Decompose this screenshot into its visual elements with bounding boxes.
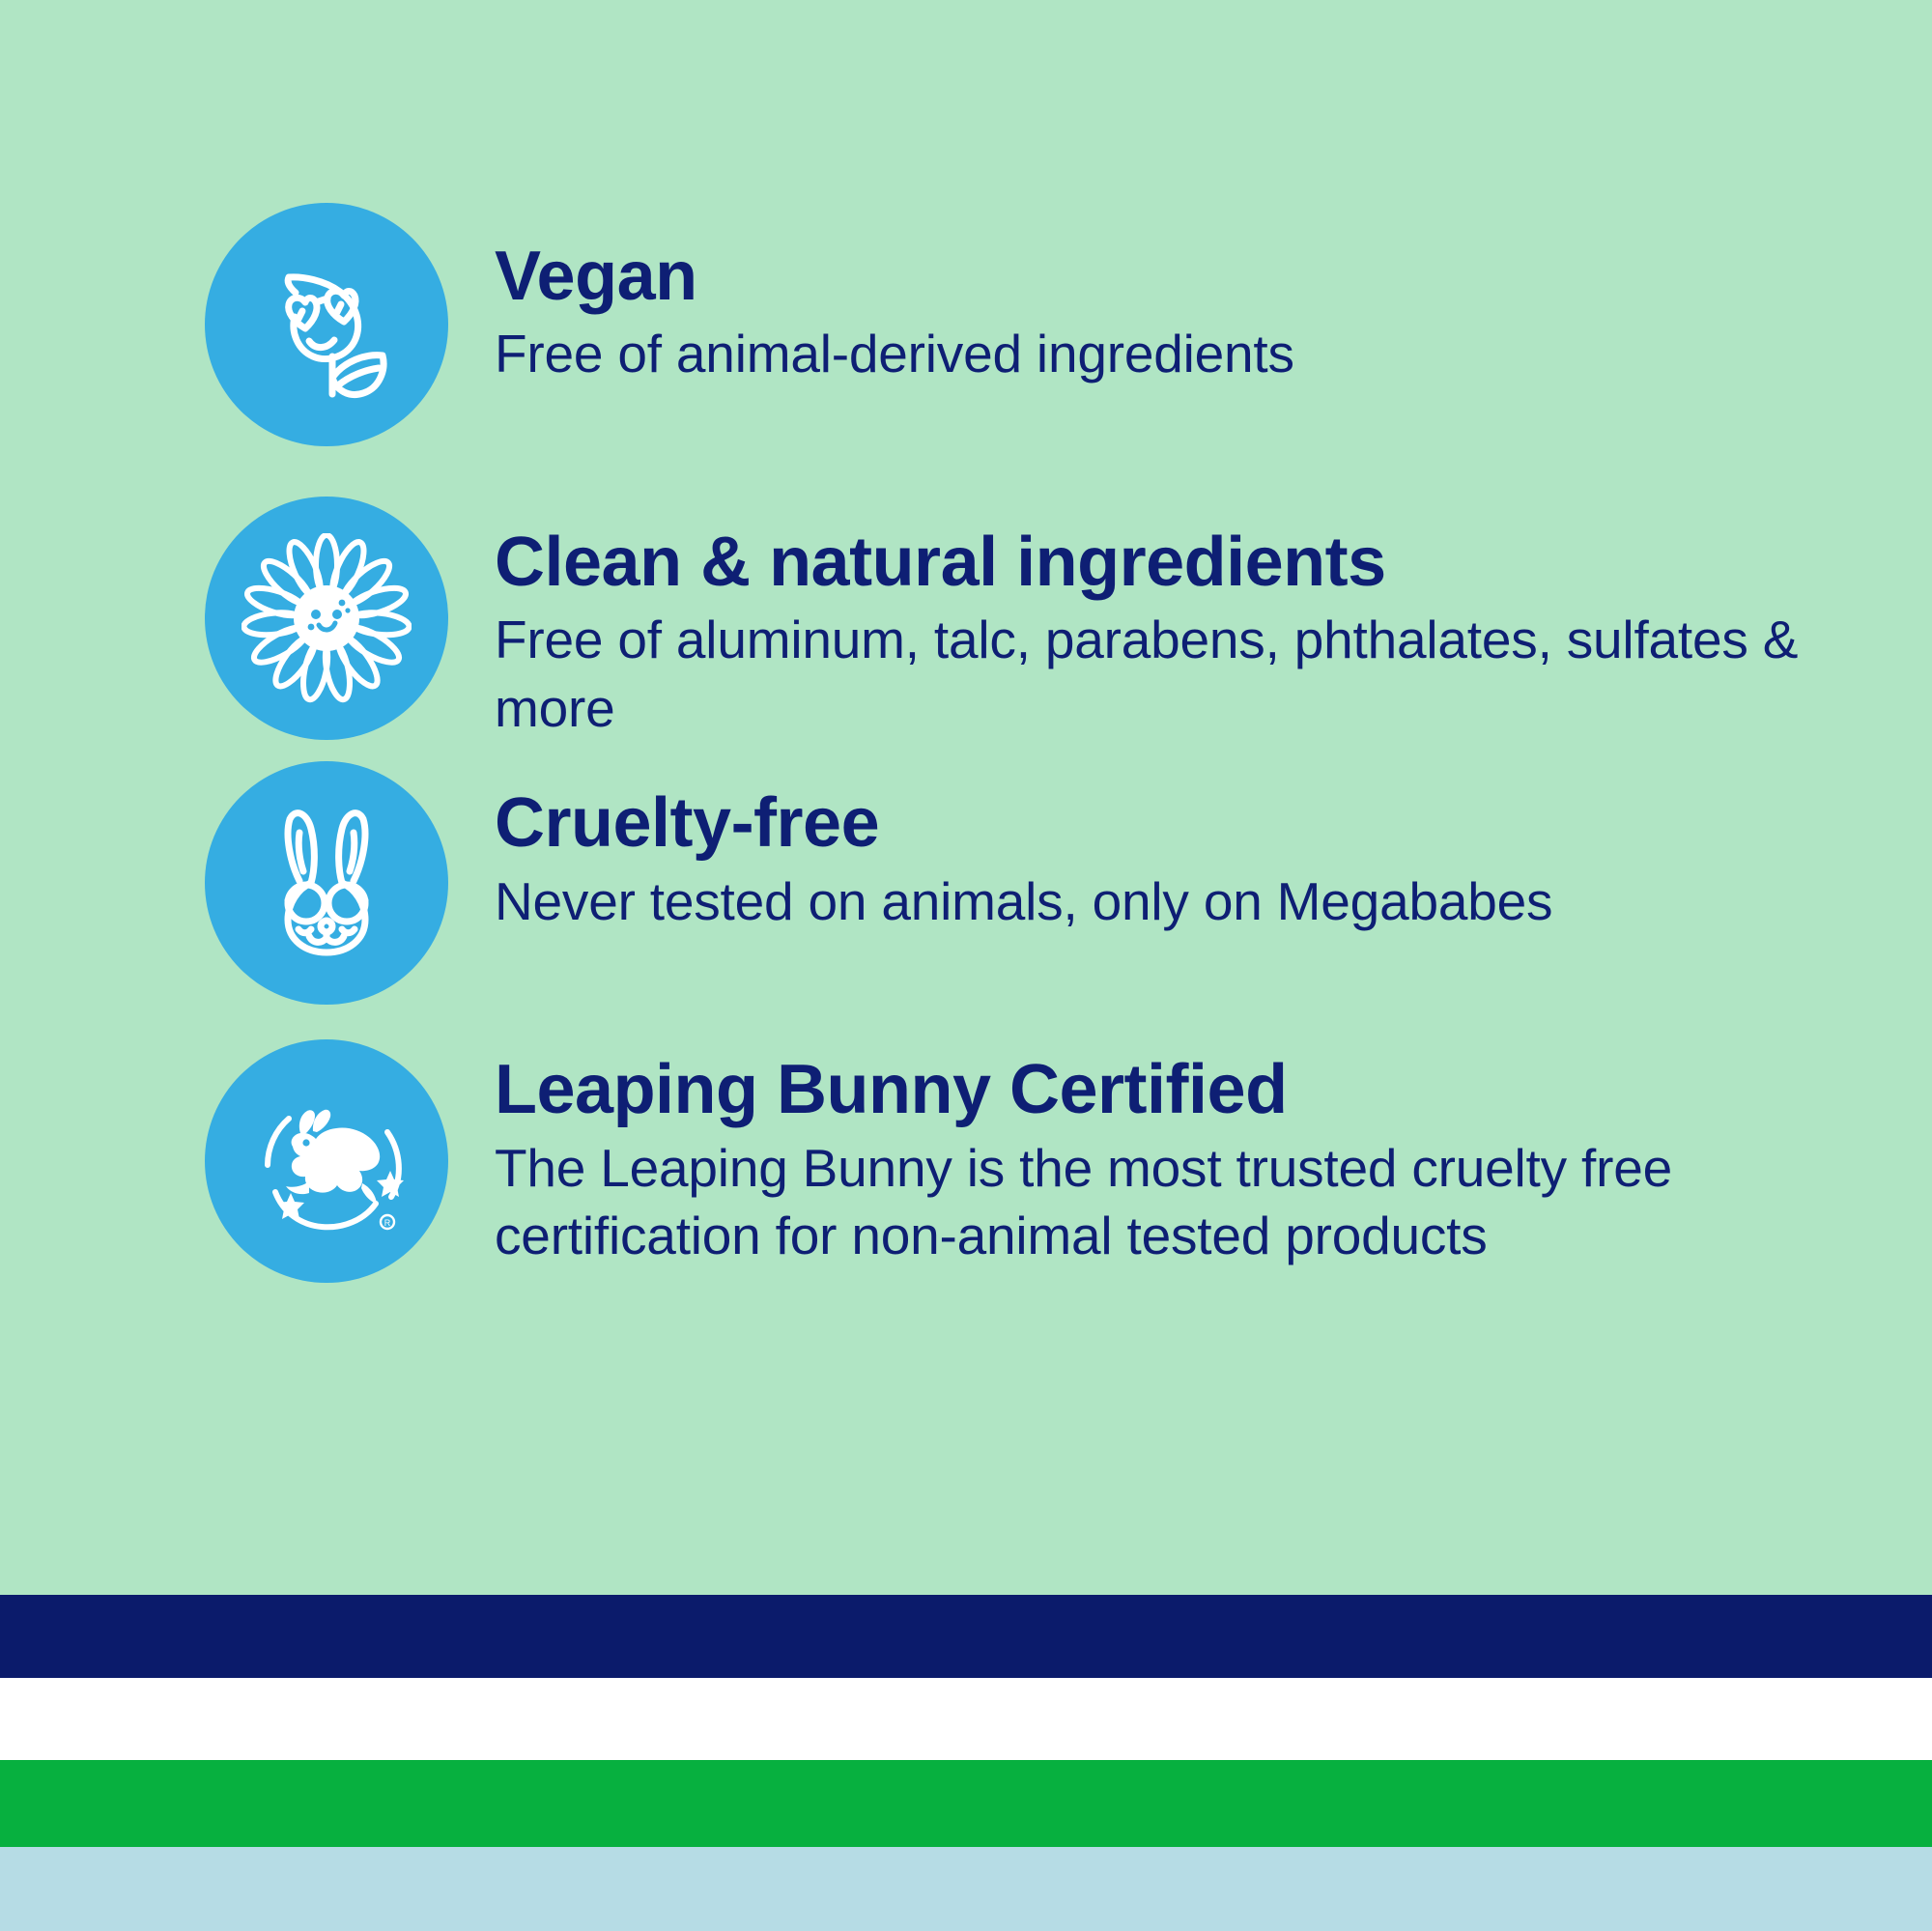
- light-blue-stripe: [0, 1847, 1932, 1931]
- feature-description: Free of aluminum, talc, parabens, phthal…: [495, 606, 1828, 742]
- feature-item-clean-natural: Clean & natural ingredients Free of alum…: [0, 506, 1932, 742]
- feature-description: Never tested on animals, only on Megabab…: [495, 867, 1828, 935]
- feature-text-cruelty-free: Cruelty-free Never tested on animals, on…: [495, 767, 1866, 935]
- feature-text-vegan: Vegan Free of animal-derived ingredients: [495, 220, 1866, 388]
- bunny-sunglasses-icon: [205, 761, 448, 1005]
- white-stripe: [0, 1678, 1932, 1760]
- feature-title: Clean & natural ingredients: [495, 527, 1866, 598]
- navy-stripe: [0, 1595, 1932, 1678]
- feature-list: Vegan Free of animal-derived ingredients: [0, 0, 1932, 1283]
- feature-item-vegan: Vegan Free of animal-derived ingredients: [0, 220, 1932, 446]
- daisy-flower-face-icon: [205, 497, 448, 740]
- green-stripe: [0, 1760, 1932, 1847]
- leaf-sunglasses-icon: [205, 203, 448, 446]
- leaping-bunny-certified-icon: R: [205, 1039, 448, 1283]
- feature-text-leaping-bunny: Leaping Bunny Certified The Leaping Bunn…: [495, 1034, 1866, 1269]
- feature-text-clean-natural: Clean & natural ingredients Free of alum…: [495, 506, 1866, 742]
- feature-title: Leaping Bunny Certified: [495, 1055, 1866, 1125]
- product-benefits-graphic: Vegan Free of animal-derived ingredients: [0, 0, 1932, 1931]
- feature-item-cruelty-free: Cruelty-free Never tested on animals, on…: [0, 767, 1932, 1005]
- feature-description: Free of animal-derived ingredients: [495, 320, 1828, 387]
- feature-title: Vegan: [495, 241, 1866, 312]
- feature-description: The Leaping Bunny is the most trusted cr…: [495, 1134, 1866, 1270]
- svg-text:R: R: [384, 1218, 391, 1228]
- feature-item-leaping-bunny: R Leaping Bunny Certified The Leaping Bu…: [0, 1034, 1932, 1283]
- feature-title: Cruelty-free: [495, 788, 1866, 859]
